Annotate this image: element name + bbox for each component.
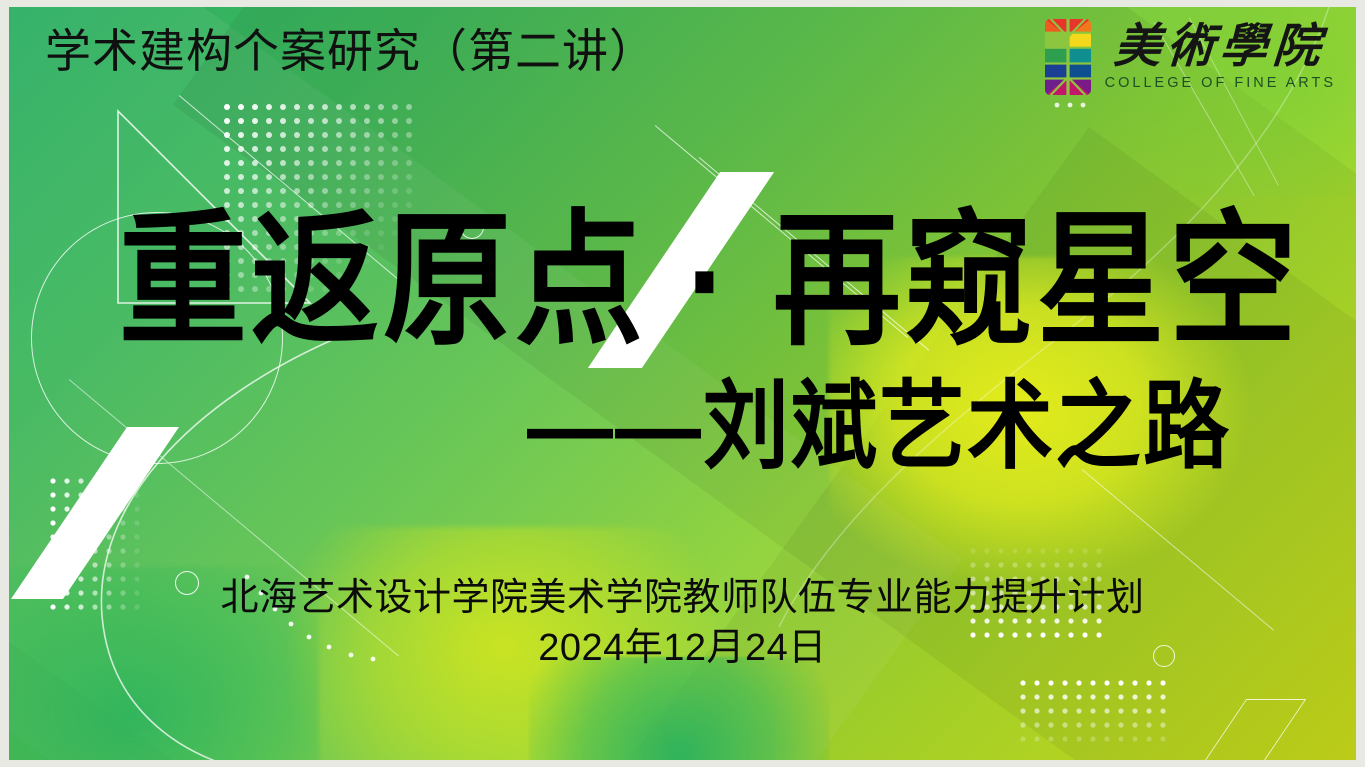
slide-footer: 北海艺术设计学院美术学院教师队伍专业能力提升计划 2024年12月24日	[9, 575, 1356, 674]
logo-text-block: 美術學院 COLLEGE OF FINE ARTS	[1105, 24, 1336, 91]
logo-chinese-name: 美術學院	[1113, 24, 1328, 71]
slide-title-sub: ——刘斌艺术之路	[527, 379, 1231, 475]
college-logo: 美術學院 COLLEGE OF FINE ARTS	[1043, 17, 1336, 97]
footer-program-name: 北海艺术设计学院美术学院教师队伍专业能力提升计划	[9, 575, 1356, 623]
slide-kicker: 学术建构个案研究（第二讲）	[45, 29, 656, 75]
slide-stage: 美術學院 COLLEGE OF FINE ARTS 学术建构个案研究（第二讲） …	[9, 7, 1356, 760]
presentation-slide: 美術學院 COLLEGE OF FINE ARTS 学术建构个案研究（第二讲） …	[0, 0, 1365, 767]
dot-field-bottom-right	[1019, 679, 1181, 760]
parallelogram-outline-bottom-right	[1144, 699, 1307, 760]
logo-english-name: COLLEGE OF FINE ARTS	[1105, 76, 1336, 91]
curved-hairline-left	[9, 337, 529, 760]
college-of-fine-arts-emblem-icon	[1043, 17, 1093, 97]
footer-date: 2024年12月24日	[9, 623, 1356, 674]
parallelogram-white-left	[11, 427, 179, 599]
slide-title-main: 重返原点 · 再窥星空	[119, 209, 1301, 355]
